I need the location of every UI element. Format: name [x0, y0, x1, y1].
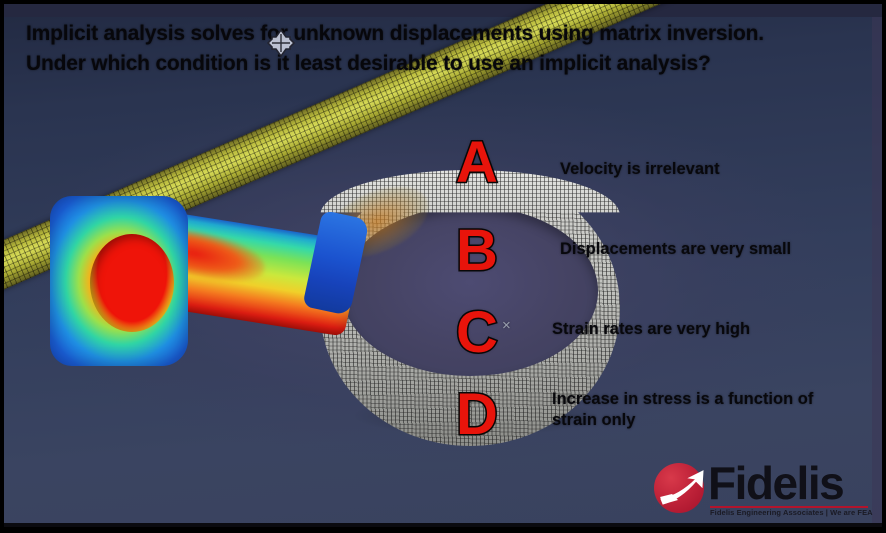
right-border-band [872, 17, 882, 527]
logo-arrow-icon [658, 467, 708, 516]
option-letter-c[interactable]: C [456, 304, 498, 362]
option-text-d[interactable]: Increase in stress is a function of stra… [552, 389, 852, 431]
option-letter-a[interactable]: A [456, 134, 498, 192]
slide-screenshot: Implicit analysis solves for unknown dis… [0, 0, 886, 533]
move-crosshair-cursor-icon [266, 28, 296, 58]
connecting-rod-stress-contour [50, 190, 350, 380]
logo-tagline: Fidelis Engineering Associates | We are … [710, 508, 873, 517]
top-border-band [4, 4, 882, 17]
option-text-c[interactable]: Strain rates are very high [552, 319, 750, 340]
option-letter-b[interactable]: B [456, 222, 498, 280]
logo-wordmark: Fidelis [708, 459, 843, 507]
question-line-1: Implicit analysis solves for unknown dis… [26, 22, 764, 46]
presentation-slide: Implicit analysis solves for unknown dis… [4, 4, 882, 527]
option-letter-d[interactable]: D [456, 386, 498, 444]
conrod-bore [90, 234, 174, 332]
question-line-2: Under which condition is it least desira… [26, 52, 711, 76]
x-marker-icon: × [502, 318, 511, 333]
bottom-border-band [4, 523, 882, 527]
option-text-b[interactable]: Displacements are very small [560, 239, 791, 260]
fidelis-logo: Fidelis Fidelis Engineering Associates |… [654, 459, 870, 521]
option-text-a[interactable]: Velocity is irrelevant [560, 159, 720, 180]
